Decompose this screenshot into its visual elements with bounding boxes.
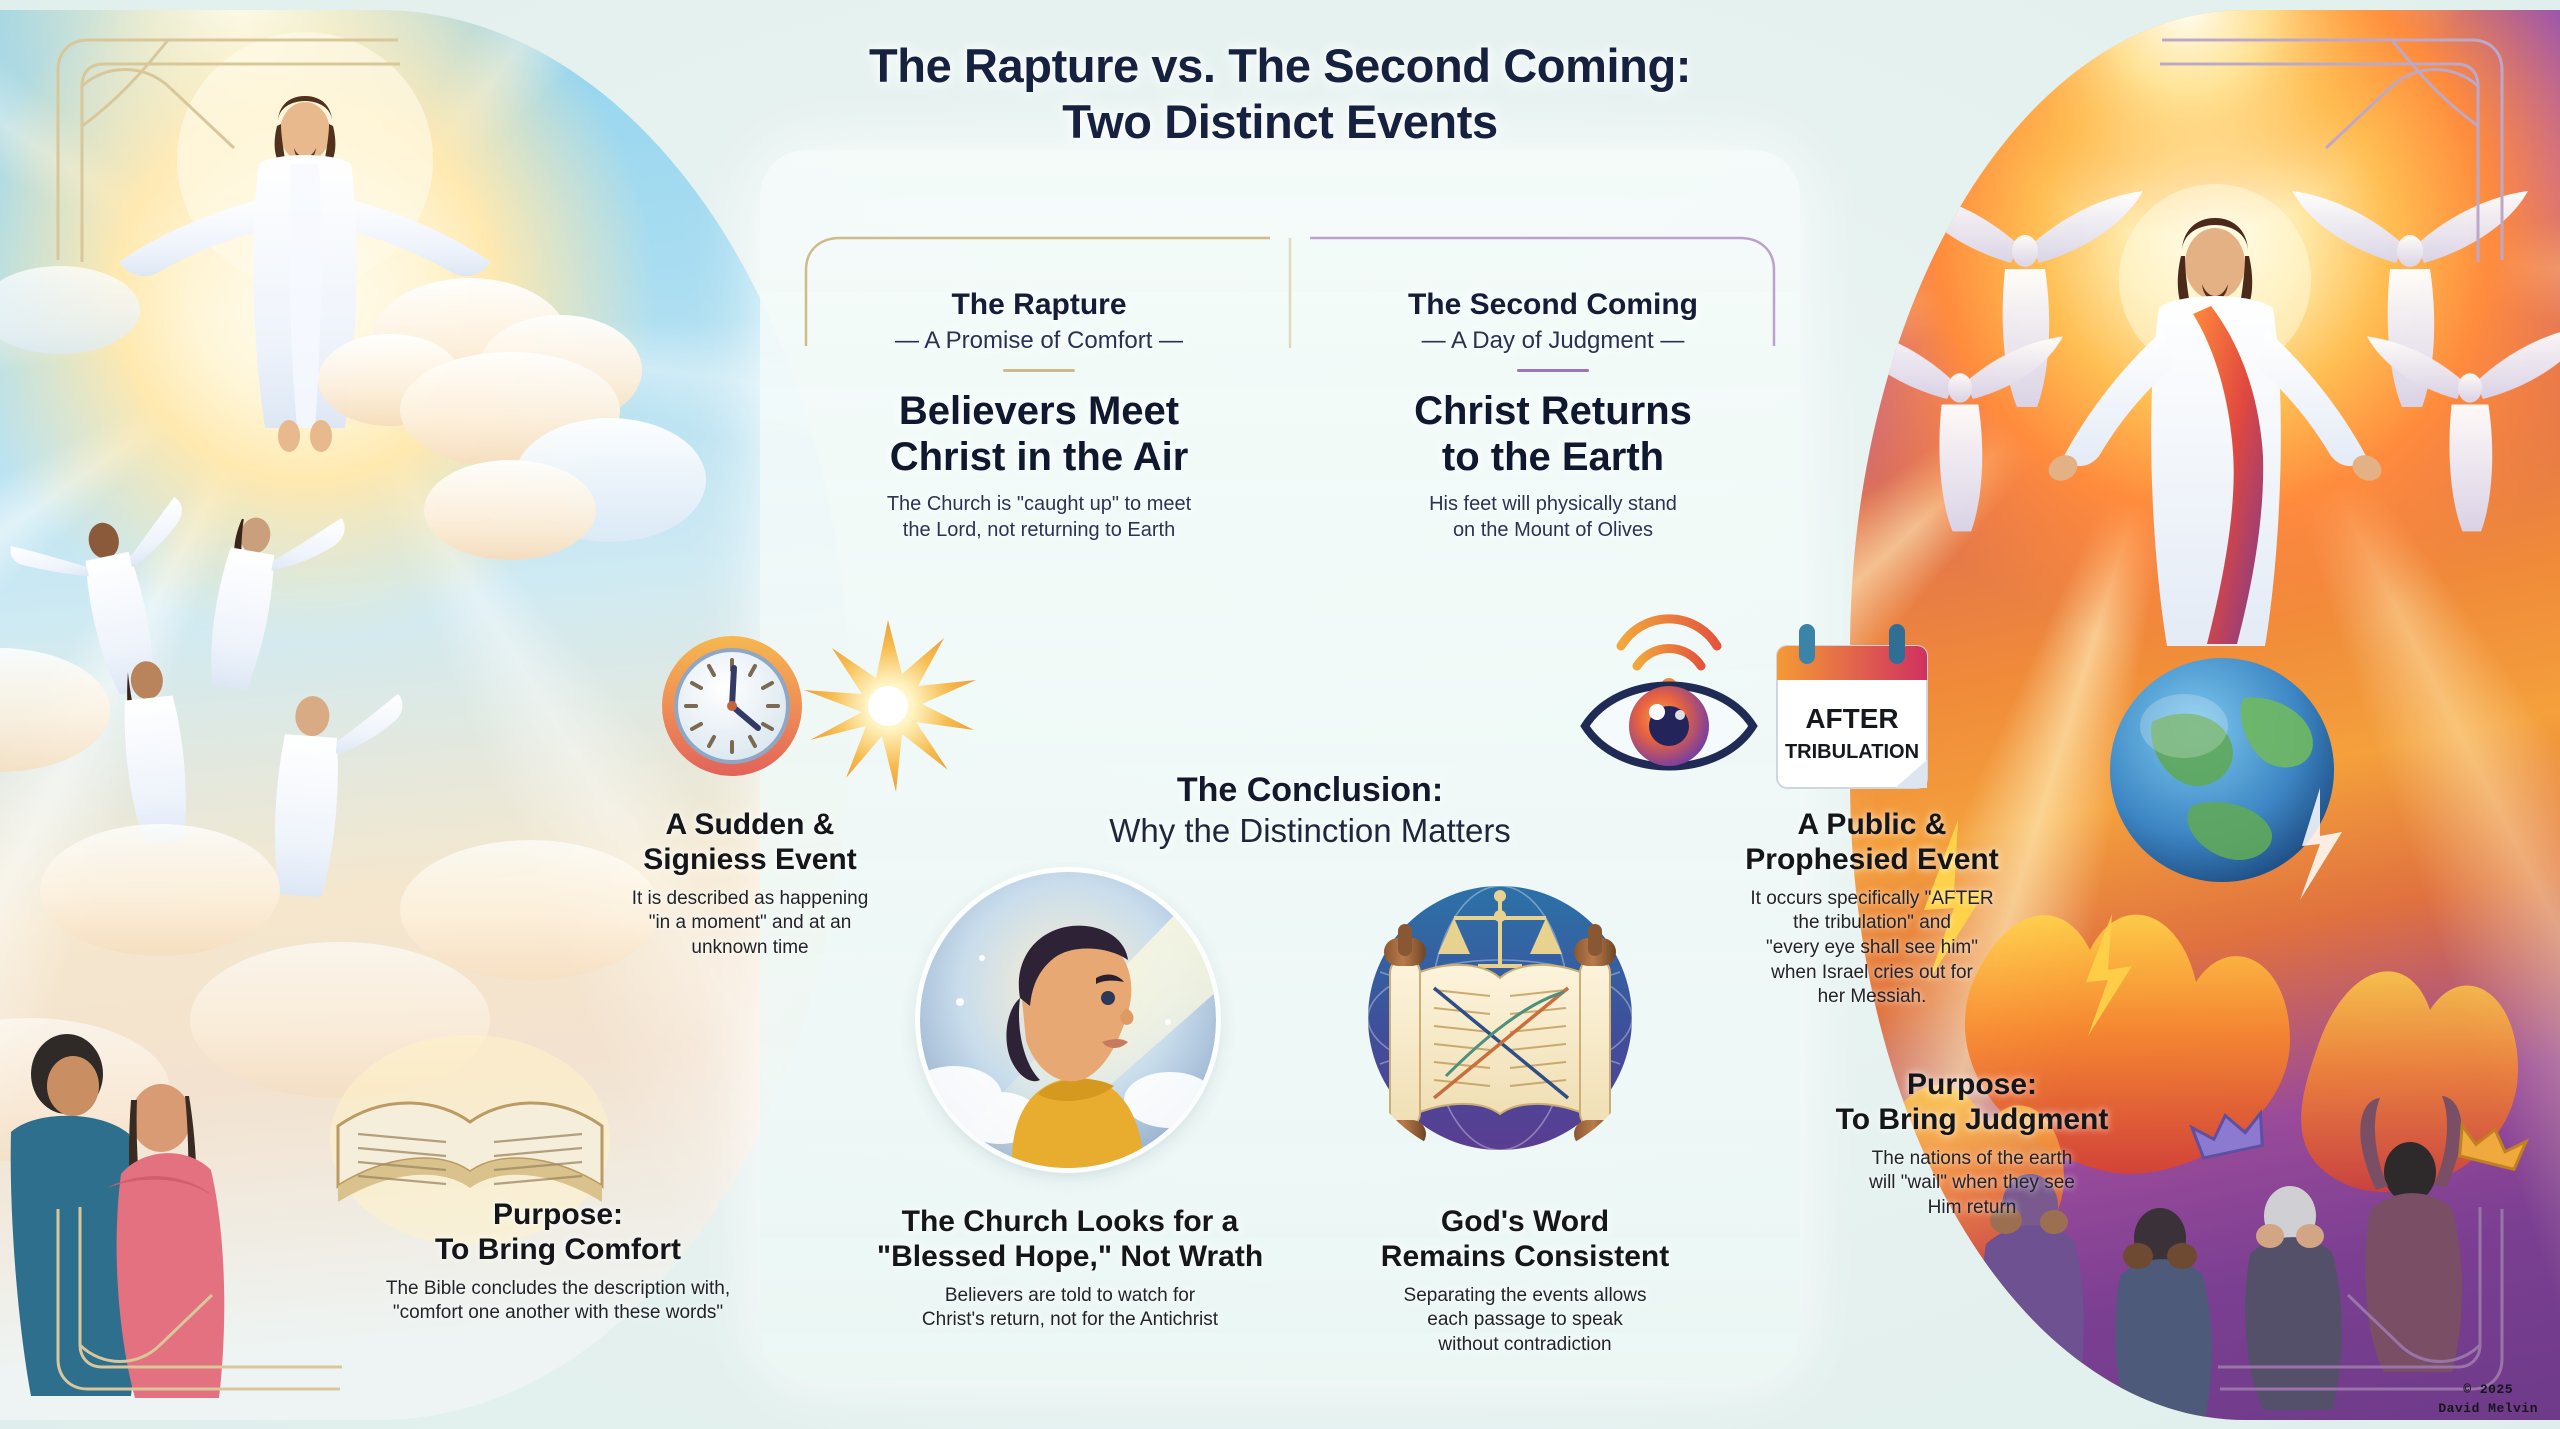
calendar-label-line-1: AFTER: [1805, 703, 1898, 734]
calendar-label-line-2: TRIBULATION: [1785, 741, 1919, 763]
left-purpose-title: Purpose: To Bring Comfort: [318, 1198, 798, 1268]
right-point-1-title: A Public & Prophesied Event: [1662, 808, 2082, 878]
right-column-subheading: — A Day of Judgment —: [1300, 327, 1806, 355]
right-point-public-prophesied: A Public & Prophesied Event It occurs sp…: [1662, 808, 2082, 1010]
conclusion-point-blessed-hope: The Church Looks for a "Blessed Hope," N…: [855, 1205, 1285, 1333]
right-point-1-description: It occurs specifically "AFTER the tribul…: [1662, 887, 2082, 1010]
copyright-year: © 2025: [2438, 1381, 2538, 1400]
conclusion-heading-line-2: Why the Distinction Matters: [1010, 811, 1610, 851]
right-purpose-description: The nations of the earth will "wail" whe…: [1762, 1147, 2182, 1221]
left-point-sudden-signless: A Sudden & Signiess Event It is describe…: [545, 808, 955, 961]
right-purpose-title: Purpose: To Bring Judgment: [1762, 1068, 2182, 1138]
eye-broadcast-icon: AFTER TRIBULATION: [1565, 600, 1945, 795]
right-column-heading: The Second Coming: [1300, 288, 1806, 323]
clock-icon: [662, 636, 802, 776]
scroll-scales-circle-image: [1350, 862, 1650, 1162]
right-column-description: His feet will physically stand on the Mo…: [1300, 492, 1806, 543]
conclusion-point-1-title: The Church Looks for a "Blessed Hope," N…: [855, 1205, 1285, 1275]
title-line-2: Two Distinct Events: [620, 94, 1940, 150]
title-line-1: The Rapture vs. The Second Coming:: [620, 38, 1940, 94]
conclusion-point-2-description: Separating the events allows each passag…: [1320, 1284, 1730, 1358]
left-column-description: The Church is "caught up" to meet the Lo…: [786, 492, 1292, 543]
left-column-subheading: — A Promise of Comfort —: [786, 327, 1292, 355]
left-point-1-title: A Sudden & Signiess Event: [545, 808, 955, 878]
conclusion-point-2-title: God's Word Remains Consistent: [1320, 1205, 1730, 1275]
left-point-1-description: It is described as happening "in a momen…: [545, 887, 955, 961]
right-purpose-judgment: Purpose: To Bring Judgment The nations o…: [1762, 1068, 2182, 1221]
starburst-icon: [804, 620, 976, 792]
conclusion-heading-line-1: The Conclusion:: [1010, 770, 1610, 811]
calendar-after-tribulation-icon: AFTER TRIBULATION: [1777, 624, 1927, 788]
left-column-header: The Rapture — A Promise of Comfort — Bel…: [786, 288, 1292, 543]
infographic-poster: The Rapture vs. The Second Coming: Two D…: [0, 0, 2560, 1429]
left-column-rule: [1003, 369, 1075, 372]
conclusion-point-1-description: Believers are told to watch for Christ's…: [855, 1284, 1285, 1333]
left-purpose-comfort: Purpose: To Bring Comfort The Bible conc…: [318, 1198, 798, 1326]
broadcast-waves-icon: [1621, 619, 1717, 666]
fallen-crown-icon: [1930, 1336, 2010, 1378]
copyright-notice: © 2025 David Melvin: [2438, 1381, 2538, 1419]
right-column-rule: [1517, 369, 1589, 372]
conclusion-point-gods-word: God's Word Remains Consistent Separating…: [1320, 1205, 1730, 1358]
copyright-author: David Melvin: [2438, 1400, 2538, 1419]
left-column-statement: Believers Meet Christ in the Air: [786, 388, 1292, 482]
right-column-statement: Christ Returns to the Earth: [1300, 388, 1806, 482]
left-column-heading: The Rapture: [786, 288, 1292, 323]
left-purpose-description: The Bible concludes the description with…: [318, 1277, 798, 1326]
eye-icon: [1585, 686, 1753, 767]
earth-globe-illustration: [2110, 658, 2334, 882]
right-column-header: The Second Coming — A Day of Judgment — …: [1300, 288, 1806, 543]
clock-burst-icon: [650, 618, 1010, 823]
page-title: The Rapture vs. The Second Coming: Two D…: [620, 38, 1940, 150]
conclusion-header: The Conclusion: Why the Distinction Matt…: [1010, 770, 1610, 850]
man-looking-up-circle-image: [920, 872, 1216, 1168]
